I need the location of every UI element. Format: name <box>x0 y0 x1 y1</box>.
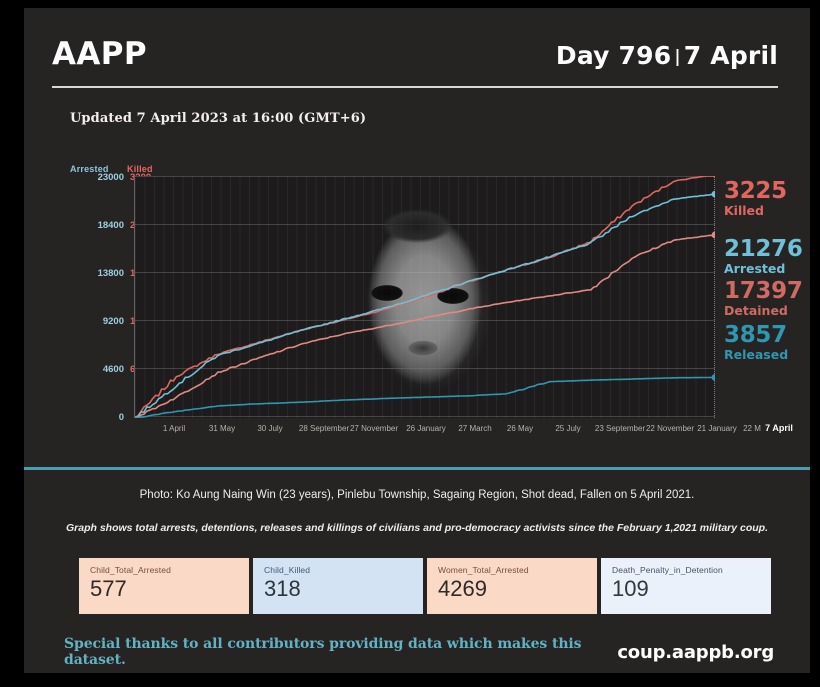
x-axis-tick: 27 March <box>458 424 491 433</box>
x-axis-tick: 22 M <box>743 424 761 433</box>
series-lines <box>135 176 715 418</box>
section-divider <box>24 467 810 470</box>
header: AAPP Day 796|7 April <box>52 36 778 94</box>
stat-card-value: 4269 <box>438 577 597 601</box>
stat-card-value: 318 <box>264 577 423 601</box>
callout-value: 21276 <box>724 238 803 261</box>
callout-label: Arrested <box>724 262 803 275</box>
stat-card-value: 577 <box>90 577 249 601</box>
stat-card-death-penalty-in-detention: Death_Penalty_in_Detention 109 <box>601 558 771 614</box>
callout-detained: 17397 Detained <box>724 280 803 317</box>
stat-card-child-killed: Child_Killed 318 <box>253 558 423 614</box>
stat-card-key: Child_Total_Arrested <box>90 565 249 575</box>
callout-label: Released <box>724 348 788 361</box>
series-line-arrested <box>135 194 715 417</box>
left-axis-tick: 13800 <box>62 268 124 279</box>
chart: Arrested Killed 23000 18400 13800 9200 4… <box>52 158 812 448</box>
left-axis-tick: 4600 <box>62 364 124 375</box>
x-axis-tick-today: 7 April <box>765 423 793 433</box>
x-axis-tick: 26 May <box>507 424 533 433</box>
infographic-root: AAPP Day 796|7 April Updated 7 April 202… <box>0 0 820 687</box>
left-axis-tick: 9200 <box>62 316 124 327</box>
graph-note: Graph shows total arrests, detentions, r… <box>24 522 810 534</box>
callout-killed: 3225 Killed <box>724 180 787 217</box>
photo-caption: Photo: Ko Aung Naing Win (23 years), Pin… <box>24 489 810 501</box>
stat-card-key: Death_Penalty_in_Detention <box>612 565 771 575</box>
footer: Special thanks to all contributors provi… <box>64 636 774 668</box>
website-link[interactable]: coup.aappb.org <box>617 642 774 663</box>
x-axis-tick: 27 November <box>350 424 398 433</box>
left-axis-tick: 0 <box>62 412 124 423</box>
series-endpoint-arrested <box>712 191 715 198</box>
header-divider <box>52 86 778 88</box>
stat-card-value: 109 <box>612 577 771 601</box>
stat-card-women-total-arrested: Women_Total_Arrested 4269 <box>427 558 597 614</box>
series-line-released <box>135 377 715 418</box>
day-label: Day 796 <box>556 41 671 70</box>
x-axis-tick: 25 July <box>555 424 580 433</box>
updated-timestamp: Updated 7 April 2023 at 16:00 (GMT+6) <box>70 111 366 126</box>
x-axis-tick: 26 January <box>406 424 446 433</box>
callout-value: 3225 <box>724 180 787 203</box>
callout-arrested: 21276 Arrested <box>724 238 803 275</box>
day-separator: | <box>671 47 683 67</box>
stat-cards: Child_Total_Arrested 577 Child_Killed 31… <box>79 558 771 614</box>
x-axis-tick: 1 April <box>163 424 185 433</box>
callout-value: 17397 <box>724 280 803 303</box>
thanks-text: Special thanks to all contributors provi… <box>64 636 617 668</box>
plot-area <box>134 176 715 418</box>
x-axis-tick: 23 September <box>595 424 645 433</box>
callout-label: Detained <box>724 304 803 317</box>
x-axis-tick: 31 May <box>209 424 235 433</box>
left-axis-tick: 23000 <box>62 172 124 183</box>
x-axis-tick: 28 September <box>299 424 349 433</box>
header-row: AAPP Day 796|7 April <box>52 36 778 82</box>
infographic-card: AAPP Day 796|7 April Updated 7 April 202… <box>24 8 810 673</box>
series-endpoint-detained <box>712 232 715 239</box>
series-line-killed <box>135 176 715 417</box>
x-axis-tick: 22 November <box>646 424 694 433</box>
series-line-detained <box>135 235 715 418</box>
callout-value: 3857 <box>724 324 788 347</box>
brand-title: AAPP <box>52 36 147 72</box>
callout-label: Killed <box>724 204 787 217</box>
stat-card-child-total-arrested: Child_Total_Arrested 577 <box>79 558 249 614</box>
stat-card-key: Child_Killed <box>264 565 423 575</box>
x-axis-tick: 21 January <box>697 424 737 433</box>
x-axis-tick: 30 July <box>257 424 282 433</box>
day-counter: Day 796|7 April <box>556 41 778 70</box>
series-endpoint-released <box>712 374 715 381</box>
stat-card-key: Women_Total_Arrested <box>438 565 597 575</box>
date-label: 7 April <box>684 41 778 70</box>
callout-released: 3857 Released <box>724 324 788 361</box>
left-axis-tick: 18400 <box>62 220 124 231</box>
